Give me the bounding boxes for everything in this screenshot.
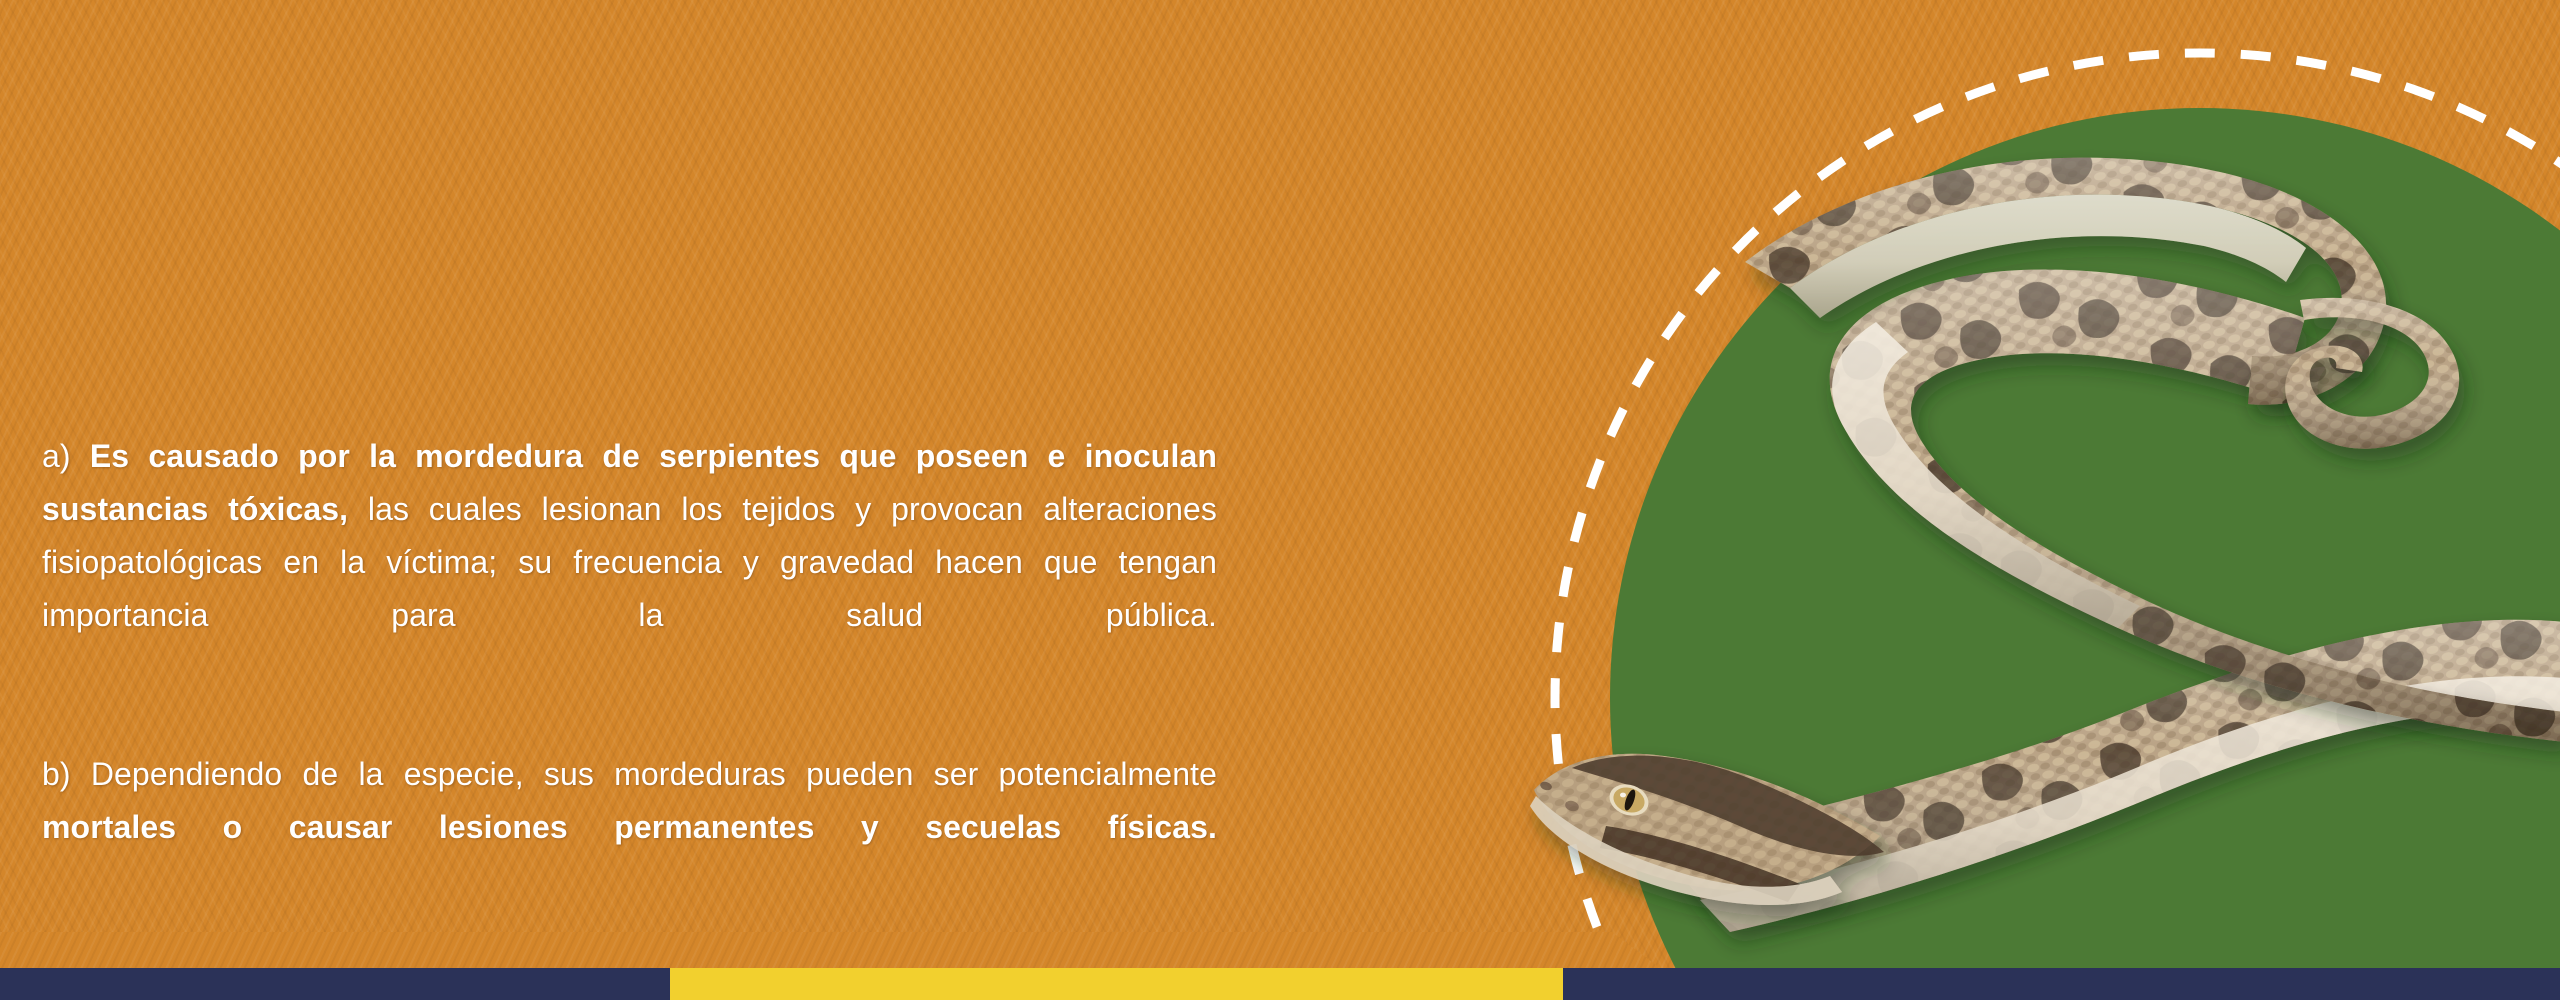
item-a-marker: a) — [42, 438, 71, 474]
orange-slab-decoration — [0, 932, 1660, 968]
paragraph-item-b: b) Dependiendo de la especie, sus morded… — [42, 748, 1217, 907]
item-b-marker: b) — [42, 756, 71, 792]
bottom-bar-navy-left — [0, 968, 670, 1000]
bottom-bar-yellow — [670, 968, 1563, 1000]
item-a-bold-lead — [71, 438, 90, 474]
item-b-bold-text: mortales o causar lesiones permanentes y… — [42, 809, 1217, 845]
item-b-rest-text: Dependiendo de la especie, sus mordedura… — [71, 756, 1217, 792]
bottom-bar-navy-right — [1563, 968, 2560, 1000]
bottom-color-bar — [0, 968, 2560, 1000]
body-text-block: a) Es causado por la mordedura de serpie… — [42, 430, 1217, 907]
paragraph-item-a: a) Es causado por la mordedura de serpie… — [42, 430, 1217, 695]
slide-canvas: a) Es causado por la mordedura de serpie… — [0, 0, 2560, 1000]
